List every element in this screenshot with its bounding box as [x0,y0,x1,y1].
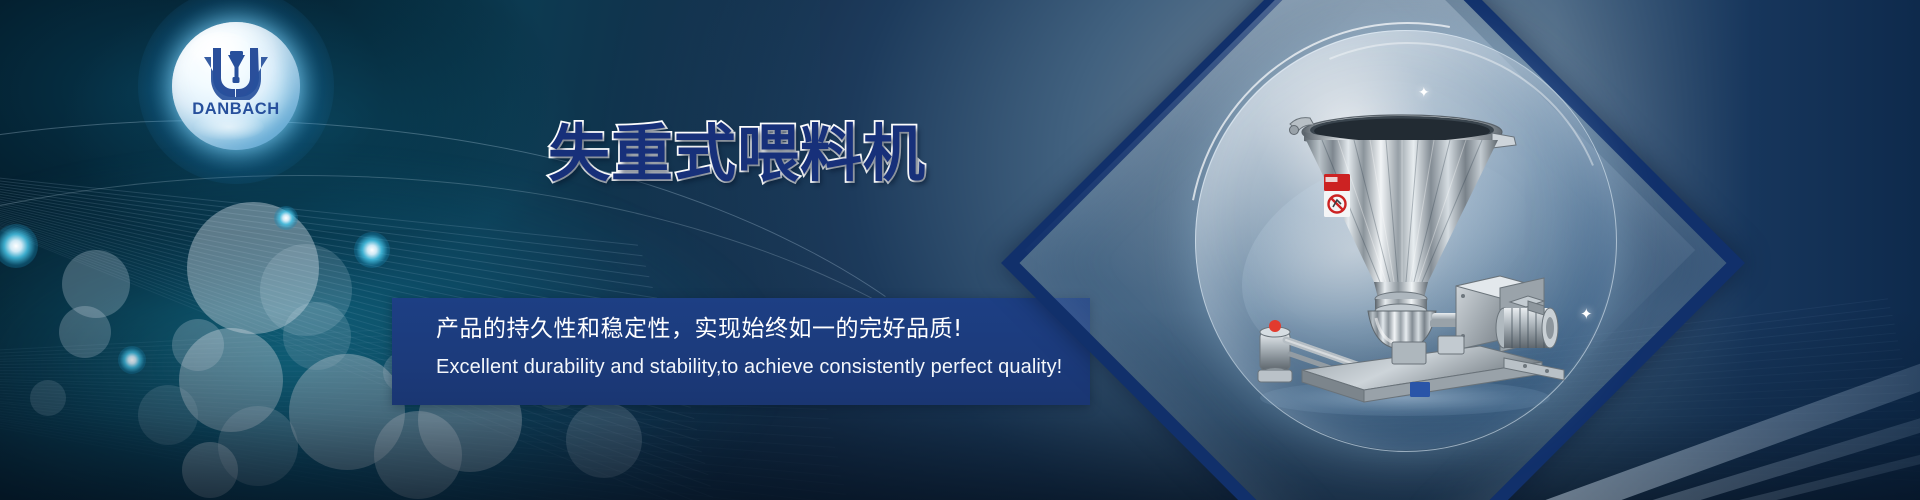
loss-in-weight-feeder-image [1242,70,1572,410]
logo-wordmark: DANBACH [172,100,300,119]
tagline-chinese: 产品的持久性和稳定性，实现始终如一的完好品质! [436,312,963,346]
product-showcase: ✦ ✦ ✦ [1020,0,1700,500]
danbach-logo[interactable]: DANBACH [172,22,300,150]
background-glow-dot [274,206,298,230]
danbach-monogram-icon [198,44,274,100]
product-banner: DANBACH 失重式喂料机 产品的持久性和稳定性，实现始终如一的完好品质! E… [0,0,1920,500]
sparkle-icon: ✦ [1580,308,1593,322]
tagline-box: 产品的持久性和稳定性，实现始终如一的完好品质! Excellent durabi… [392,298,1090,405]
background-glow-dot [354,232,390,268]
tagline-english: Excellent durability and stability,to ac… [436,352,1062,382]
banner-title: 失重式喂料机 [548,118,926,190]
